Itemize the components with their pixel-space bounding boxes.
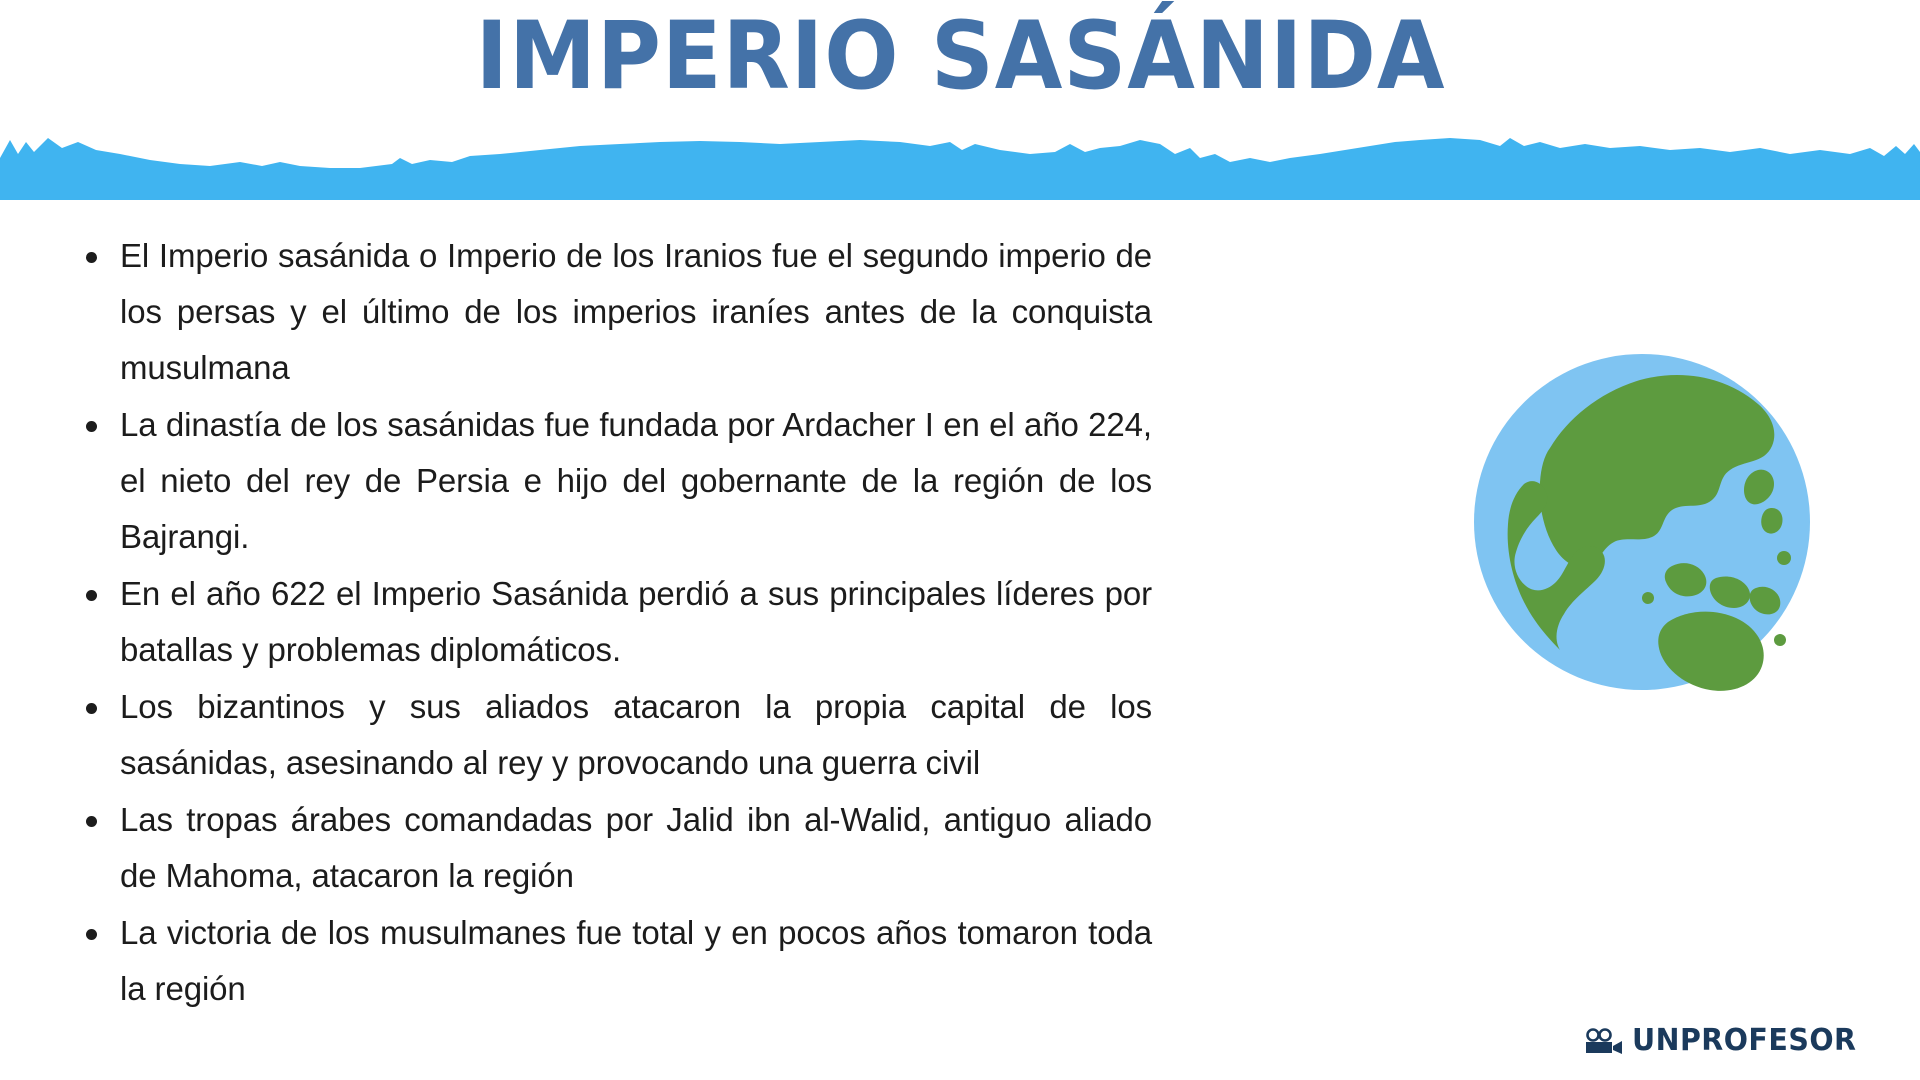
video-camera-icon — [1584, 1028, 1624, 1054]
unprofesor-logo: UNPROFESOR — [1584, 1023, 1868, 1058]
bullet-text: Los bizantinos y sus aliados atacaron la… — [120, 688, 1152, 781]
bullet-list: El Imperio sasánida o Imperio de los Ira… — [72, 228, 1152, 1017]
brush-stroke-shape — [0, 138, 1920, 200]
bullet-text: La dinastía de los sasánidas fue fundada… — [120, 406, 1152, 555]
page-title: IMPERIO SASÁNIDA — [475, 8, 1445, 107]
brush-divider — [0, 128, 1920, 200]
bullet-list-container: El Imperio sasánida o Imperio de los Ira… — [72, 228, 1152, 1018]
list-item: La dinastía de los sasánidas fue fundada… — [72, 397, 1152, 565]
logo-wordmark: UNPROFESOR — [1632, 1023, 1856, 1058]
bullet-text: La victoria de los musulmanes fue total … — [120, 914, 1152, 1007]
list-item: La victoria de los musulmanes fue total … — [72, 905, 1152, 1017]
bullet-text: Las tropas árabes comandadas por Jalid i… — [120, 801, 1152, 894]
list-item: El Imperio sasánida o Imperio de los Ira… — [72, 228, 1152, 396]
slide-canvas: IMPERIO SASÁNIDA El Imperio sasánida o I… — [0, 0, 1920, 1080]
bullet-text: En el año 622 el Imperio Sasánida perdió… — [120, 575, 1152, 668]
globe-icon — [1472, 352, 1812, 692]
title-container: IMPERIO SASÁNIDA — [0, 8, 1920, 107]
list-item: Los bizantinos y sus aliados atacaron la… — [72, 679, 1152, 791]
bullet-text: El Imperio sasánida o Imperio de los Ira… — [120, 237, 1152, 386]
list-item: Las tropas árabes comandadas por Jalid i… — [72, 792, 1152, 904]
list-item: En el año 622 el Imperio Sasánida perdió… — [72, 566, 1152, 678]
